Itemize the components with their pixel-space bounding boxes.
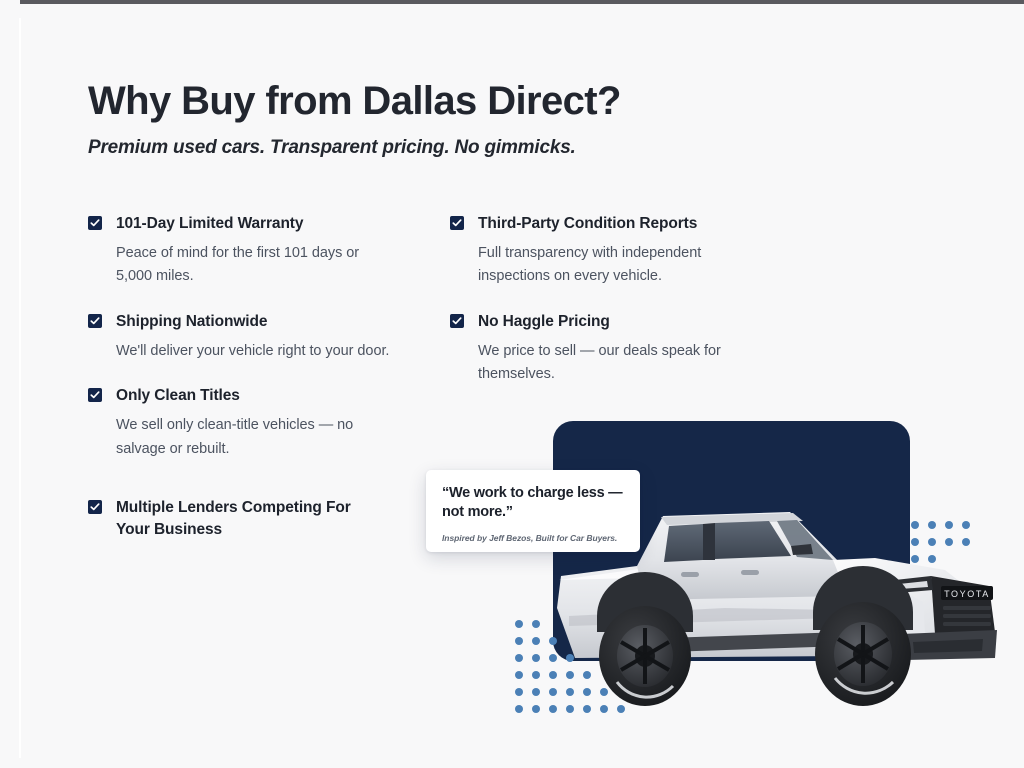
feature-title: Only Clean Titles [116, 385, 240, 407]
decorative-dot [928, 555, 936, 563]
decorative-dot [549, 654, 557, 662]
decorative-dot [928, 538, 936, 546]
feature-description: We'll deliver your vehicle right to your… [116, 340, 398, 363]
decorative-dot [945, 538, 953, 546]
decorative-dot [532, 671, 540, 679]
checkbox-checked-icon [450, 216, 464, 230]
feature-heading-row: No Haggle Pricing [450, 311, 760, 333]
feature-heading-row: Only Clean Titles [88, 385, 398, 407]
decorative-dot [962, 538, 970, 546]
decorative-dot [532, 688, 540, 696]
decorative-dot [911, 521, 919, 529]
decorative-dot [945, 521, 953, 529]
decorative-dot [911, 538, 919, 546]
feature-heading-row: Shipping Nationwide [88, 311, 398, 333]
decorative-dot [515, 654, 523, 662]
heading-block: Why Buy from Dallas Direct? Premium used… [88, 78, 688, 159]
feature-description: Peace of mind for the first 101 days or … [116, 242, 398, 289]
decorative-dot [600, 688, 608, 696]
decorative-dot [583, 688, 591, 696]
decorative-dot [549, 637, 557, 645]
feature-item-clean-titles: Only Clean Titles We sell only clean-tit… [88, 385, 398, 461]
decorative-dot [549, 705, 557, 713]
feature-description: We price to sell — our deals speak for t… [478, 340, 760, 387]
feature-title: No Haggle Pricing [478, 311, 610, 333]
decorative-dot [532, 705, 540, 713]
feature-item-warranty: 101-Day Limited Warranty Peace of mind f… [88, 213, 398, 289]
quote-card: “We work to charge less — not more.” Ins… [426, 470, 640, 552]
decorative-dot [532, 654, 540, 662]
top-border-rule [20, 0, 1024, 4]
feature-item-multiple-lenders: Multiple Lenders Competing For Your Busi… [88, 497, 398, 541]
feature-heading-row: Third-Party Condition Reports [450, 213, 760, 235]
feature-title: 101-Day Limited Warranty [116, 213, 303, 235]
feature-item-condition-reports: Third-Party Condition Reports Full trans… [450, 213, 760, 289]
decorative-dot [515, 688, 523, 696]
feature-heading-row: Multiple Lenders Competing For Your Busi… [88, 497, 398, 541]
feature-column-left: 101-Day Limited Warranty Peace of mind f… [88, 213, 398, 563]
feature-description: Full transparency with independent inspe… [478, 242, 760, 289]
decorative-dot [532, 620, 540, 628]
feature-item-no-haggle-pricing: No Haggle Pricing We price to sell — our… [450, 311, 760, 387]
feature-title: Multiple Lenders Competing For Your Busi… [116, 497, 366, 541]
decorative-dot [549, 671, 557, 679]
decorative-dot [566, 688, 574, 696]
decorative-dot [583, 671, 591, 679]
feature-title: Third-Party Condition Reports [478, 213, 697, 235]
feature-heading-row: 101-Day Limited Warranty [88, 213, 398, 235]
quote-text: “We work to charge less — not more.” [442, 484, 624, 523]
decorative-dot [911, 555, 919, 563]
quote-attribution: Inspired by Jeff Bezos, Built for Car Bu… [442, 533, 624, 543]
checkbox-checked-icon [450, 314, 464, 328]
checkbox-checked-icon [88, 216, 102, 230]
decorative-dot [566, 671, 574, 679]
decorative-dot [928, 521, 936, 529]
decorative-dot [566, 654, 574, 662]
page-subtitle: Premium used cars. Transparent pricing. … [88, 137, 688, 159]
pickup-truck-illustration: TOYOTA [545, 420, 1015, 740]
decorative-dot [532, 637, 540, 645]
decorative-dot [515, 671, 523, 679]
page-title: Why Buy from Dallas Direct? [88, 78, 688, 124]
checkbox-checked-icon [88, 500, 102, 514]
feature-title: Shipping Nationwide [116, 311, 267, 333]
left-border-rule [19, 18, 21, 758]
decorative-dot [515, 637, 523, 645]
decorative-dot [617, 705, 625, 713]
decorative-dot [600, 705, 608, 713]
decorative-dot [583, 705, 591, 713]
decorative-dot [566, 705, 574, 713]
navy-backdrop-panel [553, 421, 910, 661]
decorative-dot [515, 705, 523, 713]
checkbox-checked-icon [88, 314, 102, 328]
feature-column-right: Third-Party Condition Reports Full trans… [450, 213, 760, 409]
decorative-dot [549, 688, 557, 696]
toyota-badge-text: TOYOTA [944, 589, 990, 599]
checkbox-checked-icon [88, 388, 102, 402]
feature-item-shipping: Shipping Nationwide We'll deliver your v… [88, 311, 398, 363]
decorative-dot [515, 620, 523, 628]
decorative-dot [962, 521, 970, 529]
feature-description: We sell only clean-title vehicles — no s… [116, 414, 398, 461]
